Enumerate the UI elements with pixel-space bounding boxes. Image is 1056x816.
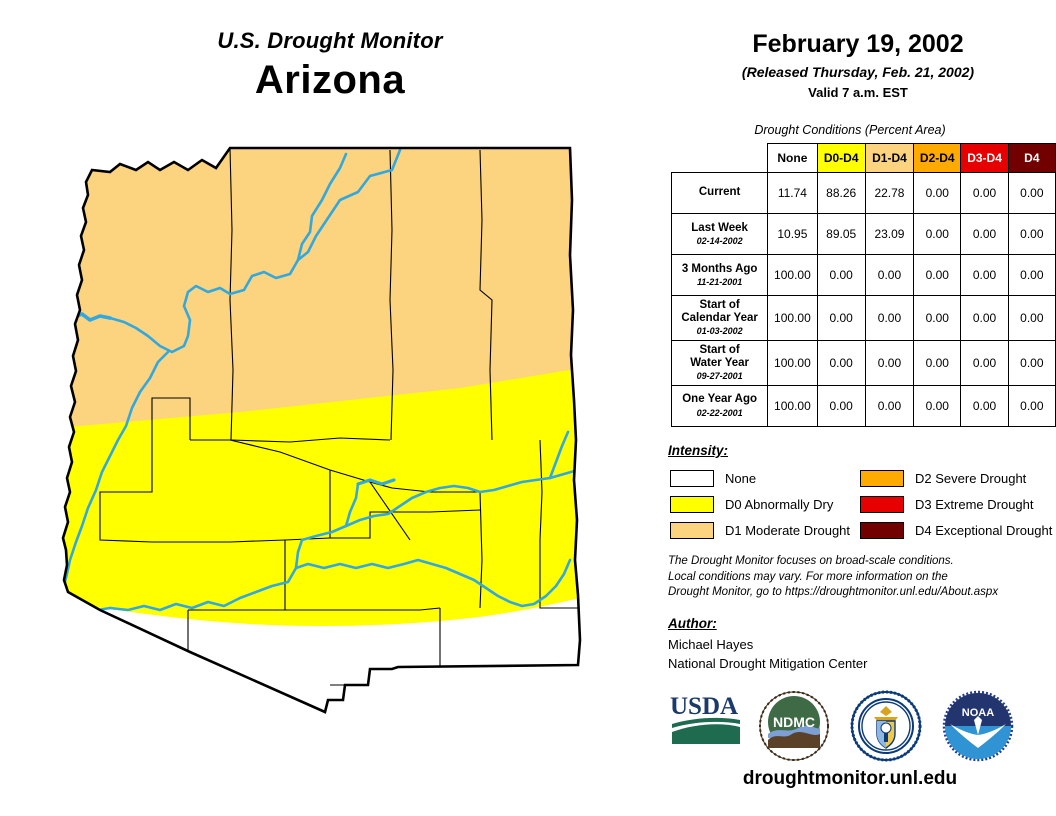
table-cell-d1-d4: 0.00 [865, 340, 913, 385]
usda-logo[interactable]: USDA [668, 690, 744, 753]
title-block: U.S. Drought Monitor Arizona [0, 28, 660, 103]
legend-label: D2 Severe Drought [915, 471, 1026, 486]
table-cell-d4: 0.00 [1008, 340, 1055, 385]
disclaimer-line-3: Drought Monitor, go to https://droughtmo… [668, 585, 1056, 601]
row-label-date: 11-21-2001 [676, 277, 763, 287]
legend-label: D0 Abnormally Dry [725, 497, 833, 512]
table-row-label: Last Week02-14-2002 [672, 214, 768, 255]
table-cell-d3-d4: 0.00 [961, 214, 1008, 255]
table-cell-d4: 0.00 [1008, 296, 1055, 341]
arizona-map-svg[interactable] [40, 140, 630, 790]
website-url[interactable]: droughtmonitor.unl.edu [660, 768, 1040, 790]
table-cell-d0-d4: 88.26 [817, 173, 865, 214]
intensity-legend-title: Intensity: [668, 443, 728, 458]
state-title: Arizona [0, 58, 660, 103]
info-panel: February 19, 2002 (Released Thursday, Fe… [660, 0, 1056, 816]
legend-item: None [670, 466, 850, 490]
legend-label: None [725, 471, 756, 486]
table-cell-d3-d4: 0.00 [961, 255, 1008, 296]
table-header: NoneD0-D4D1-D4D2-D4D3-D4D4 [672, 144, 1056, 173]
table-cell-d2-d4: 0.00 [914, 255, 961, 296]
legend-item: D2 Severe Drought [860, 466, 1052, 490]
table-col-header-d3-d4: D3-D4 [961, 144, 1008, 173]
table-corner-cell [672, 144, 768, 173]
table-col-header-d1-d4: D1-D4 [865, 144, 913, 173]
legend-item: D0 Abnormally Dry [670, 492, 850, 516]
table-row: Start ofWater Year09-27-2001100.000.000.… [672, 340, 1056, 385]
logo-row: USDA NDMC [660, 690, 1056, 770]
table-col-header-d0-d4: D0-D4 [817, 144, 865, 173]
legend-swatch-right-2 [860, 522, 904, 539]
table-row: One Year Ago02-22-2001100.000.000.000.00… [672, 385, 1056, 426]
author-block: Michael Hayes National Drought Mitigatio… [668, 636, 867, 674]
arizona-drought-map[interactable] [40, 140, 630, 790]
ndmc-logo[interactable]: NDMC [758, 690, 830, 767]
table-cell-none: 100.00 [768, 296, 817, 341]
legend-swatch-right-1 [860, 496, 904, 513]
table-body: Current11.7488.2622.780.000.000.00Last W… [672, 173, 1056, 427]
noaa-logo[interactable]: NOAA [942, 690, 1014, 767]
table-cell-d0-d4: 0.00 [817, 255, 865, 296]
usda-logo-text: USDA [670, 693, 738, 720]
table-cell-d0-d4: 0.00 [817, 296, 865, 341]
table-cell-d1-d4: 0.00 [865, 296, 913, 341]
table-cell-d4: 0.00 [1008, 255, 1055, 296]
noaa-logo-text: NOAA [962, 707, 994, 719]
author-name: Michael Hayes [668, 636, 867, 655]
row-label-date: 02-22-2001 [676, 408, 763, 418]
ndmc-logo-text: NDMC [773, 714, 815, 730]
author-heading: Author: [668, 616, 717, 631]
table-row-label: Start ofWater Year09-27-2001 [672, 340, 768, 385]
table-cell-none: 11.74 [768, 173, 817, 214]
table-row-label: One Year Ago02-22-2001 [672, 385, 768, 426]
row-label-text: 3 Months Ago [676, 263, 763, 276]
table-cell-none: 10.95 [768, 214, 817, 255]
date-block: February 19, 2002 (Released Thursday, Fe… [660, 30, 1056, 100]
valid-time: Valid 7 a.m. EST [660, 85, 1056, 100]
table-cell-d4: 0.00 [1008, 173, 1055, 214]
row-label-date: 01-03-2002 [676, 326, 763, 336]
row-label-date: 09-27-2001 [676, 371, 763, 381]
legend-item: D3 Extreme Drought [860, 492, 1052, 516]
table-row-label: Current [672, 173, 768, 214]
table-cell-none: 100.00 [768, 340, 817, 385]
legend-item: D4 Exceptional Drought [860, 518, 1052, 542]
table-row-label: Start ofCalendar Year01-03-2002 [672, 296, 768, 341]
row-label-date: 02-14-2002 [676, 236, 763, 246]
table-cell-d2-d4: 0.00 [914, 296, 961, 341]
table-cell-d2-d4: 0.00 [914, 214, 961, 255]
table-cell-d3-d4: 0.00 [961, 296, 1008, 341]
table-cell-d4: 0.00 [1008, 385, 1055, 426]
table-cell-d0-d4: 0.00 [817, 340, 865, 385]
legend-label: D3 Extreme Drought [915, 497, 1034, 512]
legend-label: D1 Moderate Drought [725, 523, 850, 538]
table-cell-d2-d4: 0.00 [914, 173, 961, 214]
table-cell-none: 100.00 [768, 385, 817, 426]
legend-swatch-left-1 [670, 496, 714, 513]
author-org: National Drought Mitigation Center [668, 655, 867, 674]
legend-column-right: D2 Severe DroughtD3 Extreme DroughtD4 Ex… [860, 466, 1052, 544]
map-panel: U.S. Drought Monitor Arizona [0, 0, 660, 816]
table-header-row: NoneD0-D4D1-D4D2-D4D3-D4D4 [672, 144, 1056, 173]
table-row-label: 3 Months Ago11-21-2001 [672, 255, 768, 296]
table-cell-none: 100.00 [768, 255, 817, 296]
table-cell-d0-d4: 0.00 [817, 385, 865, 426]
table-row: Last Week02-14-200210.9589.0523.090.000.… [672, 214, 1056, 255]
table-cell-d2-d4: 0.00 [914, 340, 961, 385]
disclaimer-text: The Drought Monitor focuses on broad-sca… [668, 554, 1056, 601]
row-label-text: Current [676, 186, 763, 199]
us-department-of-commerce-seal[interactable] [850, 690, 922, 767]
table-cell-d1-d4: 22.78 [865, 173, 913, 214]
legend-swatch-left-0 [670, 470, 714, 487]
table-col-header-d2-d4: D2-D4 [914, 144, 961, 173]
table-cell-d4: 0.00 [1008, 214, 1055, 255]
row-label-text: One Year Ago [676, 393, 763, 406]
page-title: U.S. Drought Monitor [0, 28, 660, 54]
disclaimer-line-2: Local conditions may vary. For more info… [668, 570, 1056, 586]
table-cell-d2-d4: 0.00 [914, 385, 961, 426]
table-cell-d1-d4: 0.00 [865, 385, 913, 426]
table-col-header-d4: D4 [1008, 144, 1055, 173]
table-caption: Drought Conditions (Percent Area) [660, 123, 1040, 137]
table-cell-d3-d4: 0.00 [961, 385, 1008, 426]
legend-column-left: NoneD0 Abnormally DryD1 Moderate Drought [670, 466, 850, 544]
report-date: February 19, 2002 [660, 30, 1056, 59]
table-cell-d1-d4: 0.00 [865, 255, 913, 296]
table-cell-d0-d4: 89.05 [817, 214, 865, 255]
legend-swatch-left-2 [670, 522, 714, 539]
table-row: Start ofCalendar Year01-03-2002100.000.0… [672, 296, 1056, 341]
legend-label: D4 Exceptional Drought [915, 523, 1052, 538]
table-cell-d1-d4: 23.09 [865, 214, 913, 255]
legend-item: D1 Moderate Drought [670, 518, 850, 542]
row-label-text: Start ofCalendar Year [676, 299, 763, 325]
row-label-text: Last Week [676, 222, 763, 235]
disclaimer-line-1: The Drought Monitor focuses on broad-sca… [668, 554, 1056, 570]
release-date: (Released Thursday, Feb. 21, 2002) [660, 64, 1056, 80]
table-row: 3 Months Ago11-21-2001100.000.000.000.00… [672, 255, 1056, 296]
table-col-header-none: None [768, 144, 817, 173]
table-cell-d3-d4: 0.00 [961, 173, 1008, 214]
drought-conditions-table: NoneD0-D4D1-D4D2-D4D3-D4D4 Current11.748… [671, 143, 1056, 427]
legend-swatch-right-0 [860, 470, 904, 487]
row-label-text: Start ofWater Year [676, 344, 763, 370]
table-row: Current11.7488.2622.780.000.000.00 [672, 173, 1056, 214]
table-cell-d3-d4: 0.00 [961, 340, 1008, 385]
